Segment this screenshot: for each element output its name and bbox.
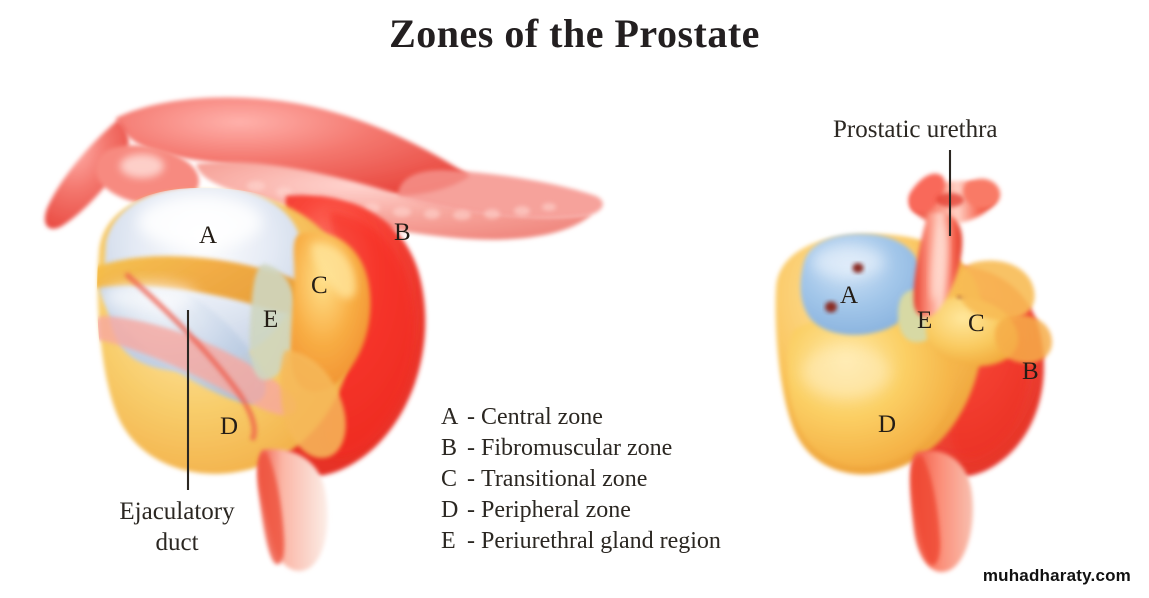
right-zone-letter-a: A	[840, 282, 858, 310]
ejaculatory-duct-opening-2	[825, 302, 837, 313]
legend-row: C - Transitional zone	[441, 464, 721, 495]
legend-label: Fibromuscular zone	[481, 433, 672, 464]
callout-ejaculatory-duct: Ejaculatory duct	[82, 496, 272, 558]
left-zone-letter-e: E	[263, 306, 278, 334]
legend-dash: -	[461, 464, 481, 495]
right-zone-letter-c: C	[968, 310, 985, 338]
zone-legend: A - Central zone B - Fibromuscular zone …	[441, 402, 721, 557]
right-zone-letter-b: B	[1022, 358, 1039, 386]
callout-prostatic-urethra: Prostatic urethra	[833, 116, 998, 144]
right-figure-cross-section	[776, 150, 1052, 572]
watermark: muhadharaty.com	[983, 566, 1131, 586]
left-zone-letter-d: D	[220, 413, 238, 441]
right-zone-letter-d: D	[878, 411, 896, 439]
page-title: Zones of the Prostate	[0, 10, 1149, 57]
legend-label: Periurethral gland region	[481, 526, 721, 557]
legend-key: A	[441, 402, 461, 433]
legend-dash: -	[461, 526, 481, 557]
legend-key: C	[441, 464, 461, 495]
left-zone-letter-b: B	[394, 219, 411, 247]
legend-label: Transitional zone	[481, 464, 647, 495]
left-zone-letter-a: A	[199, 222, 217, 250]
legend-label: Peripheral zone	[481, 495, 631, 526]
legend-dash: -	[461, 402, 481, 433]
legend-row: B - Fibromuscular zone	[441, 433, 721, 464]
legend-label: Central zone	[481, 402, 603, 433]
peripheral-zone-right-highlight	[802, 346, 890, 398]
legend-key: E	[441, 526, 461, 557]
seminal-vesicle-highlight	[120, 154, 164, 178]
legend-dash: -	[461, 495, 481, 526]
legend-row: D - Peripheral zone	[441, 495, 721, 526]
callout-ejaculatory-duct-line2: duct	[82, 527, 272, 558]
ejaculatory-duct-opening-1	[853, 263, 864, 273]
legend-row: E - Periurethral gland region	[441, 526, 721, 557]
legend-dash: -	[461, 433, 481, 464]
callout-ejaculatory-duct-line1: Ejaculatory	[82, 496, 272, 527]
legend-row: A - Central zone	[441, 402, 721, 433]
left-zone-letter-c: C	[311, 272, 328, 300]
central-zone-right-highlight	[812, 246, 884, 278]
legend-key: B	[441, 433, 461, 464]
right-zone-letter-e: E	[917, 307, 932, 335]
legend-key: D	[441, 495, 461, 526]
